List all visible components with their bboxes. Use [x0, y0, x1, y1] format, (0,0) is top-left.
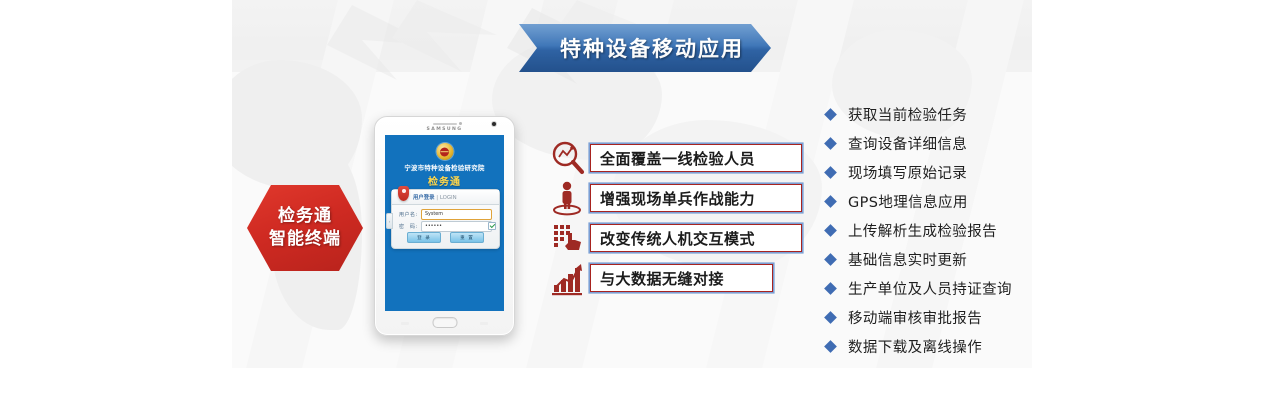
- feature-row: 改变传统人机交互模式: [548, 218, 818, 258]
- diamond-bullet-icon: [824, 224, 837, 237]
- slide-canvas: 特种设备移动应用 检务通 智能终端 SAMSUNG 宁波市特种设备检验研究院 检…: [0, 0, 1280, 400]
- list-item: 生产单位及人员持证查询: [826, 274, 1076, 303]
- list-item-label: GPS地理信息应用: [848, 191, 968, 212]
- diamond-bullet-icon: [824, 108, 837, 121]
- password-row: 密 码: ••••••: [399, 221, 492, 231]
- username-label: 用户名:: [399, 211, 421, 218]
- diamond-bullet-icon: [824, 311, 837, 324]
- list-item-label: 移动端审核审批报告: [848, 307, 982, 328]
- capability-bullet-list: 获取当前检验任务 查询设备详细信息 现场填写原始记录 GPS地理信息应用 上传解…: [826, 100, 1076, 361]
- speaker-grille: [433, 123, 457, 125]
- list-item: GPS地理信息应用: [826, 187, 1076, 216]
- login-submit-button[interactable]: 登 录: [407, 232, 441, 243]
- feature-box: 与大数据无缝对接: [590, 264, 773, 292]
- login-header-text: 用户登录 | LOGIN: [413, 193, 457, 201]
- bar-chart-growth-icon: [548, 259, 590, 297]
- feature-row: 全面覆盖一线检验人员: [548, 138, 818, 178]
- list-item: 基础信息实时更新: [826, 245, 1076, 274]
- diamond-bullet-icon: [824, 340, 837, 353]
- username-row: 用户名: System: [399, 209, 492, 219]
- diamond-bullet-icon: [824, 195, 837, 208]
- sensor-dot: [459, 122, 462, 125]
- password-input[interactable]: ••••••: [421, 221, 492, 232]
- login-header-cn: 用户登录: [413, 195, 435, 201]
- login-button-row: 登 录 重 置: [392, 232, 499, 243]
- tablet-device: SAMSUNG 宁波市特种设备检验研究院 检务通 用户登录 | LOGIN 用户…: [374, 116, 515, 336]
- password-label: 密 码:: [399, 223, 421, 230]
- list-item-label: 生产单位及人员持证查询: [848, 278, 1012, 299]
- list-item: 数据下载及离线操作: [826, 332, 1076, 361]
- banner-title: 特种设备移动应用: [546, 33, 744, 63]
- home-button[interactable]: [432, 317, 457, 328]
- diamond-bullet-icon: [824, 166, 837, 179]
- menu-capacitive-key[interactable]: [401, 322, 409, 325]
- login-panel: 用户登录 | LOGIN 用户名: System 密 码: •••••• 登 录…: [391, 189, 500, 249]
- feature-label: 与大数据无缝对接: [600, 268, 724, 289]
- list-item-label: 数据下载及离线操作: [848, 336, 982, 357]
- list-item: 移动端审核审批报告: [826, 303, 1076, 332]
- feature-row: 与大数据无缝对接: [548, 258, 818, 298]
- feature-box: 增强现场单兵作战能力: [590, 184, 802, 212]
- feature-box: 改变传统人机交互模式: [590, 224, 802, 252]
- product-badge: 检务通 智能终端: [247, 185, 363, 271]
- back-capacitive-key[interactable]: [480, 322, 488, 325]
- organization-name: 宁波市特种设备检验研究院: [385, 163, 504, 172]
- list-item: 查询设备详细信息: [826, 129, 1076, 158]
- remember-password-checkbox[interactable]: [488, 222, 496, 230]
- list-item: 获取当前检验任务: [826, 100, 1076, 129]
- feature-list: 全面覆盖一线检验人员 增强现场单兵作战能力: [548, 138, 818, 298]
- diamond-bullet-icon: [824, 253, 837, 266]
- feature-label: 改变传统人机交互模式: [600, 228, 755, 249]
- list-item-label: 现场填写原始记录: [848, 162, 967, 183]
- tablet-screen: 宁波市特种设备检验研究院 检务通 用户登录 | LOGIN 用户名: Syste…: [385, 135, 504, 311]
- feature-row: 增强现场单兵作战能力: [548, 178, 818, 218]
- list-item: 现场填写原始记录: [826, 158, 1076, 187]
- list-item-label: 上传解析生成检验报告: [848, 220, 997, 241]
- title-banner: 特种设备移动应用: [519, 24, 771, 72]
- feature-label: 全面覆盖一线检验人员: [600, 148, 755, 169]
- search-chart-icon: [548, 139, 590, 177]
- person-location-icon: [548, 179, 590, 217]
- list-item-label: 查询设备详细信息: [848, 133, 967, 154]
- touch-hand-icon: [548, 219, 590, 257]
- badge-line-2: 智能终端: [269, 228, 341, 251]
- list-item-label: 基础信息实时更新: [848, 249, 967, 270]
- user-badge-icon: [398, 186, 409, 201]
- login-header-en: LOGIN: [440, 195, 457, 201]
- front-camera-icon: [492, 122, 496, 126]
- screen-lower-area: [385, 255, 504, 311]
- username-input[interactable]: System: [421, 209, 492, 220]
- login-reset-button[interactable]: 重 置: [450, 232, 484, 243]
- side-drawer-toggle[interactable]: ›: [386, 213, 393, 229]
- feature-label: 增强现场单兵作战能力: [600, 188, 755, 209]
- list-item: 上传解析生成检验报告: [826, 216, 1076, 245]
- diamond-bullet-icon: [824, 282, 837, 295]
- agency-emblem-icon: [436, 143, 453, 160]
- badge-line-1: 检务通: [278, 205, 332, 228]
- device-brand-label: SAMSUNG: [375, 127, 514, 132]
- diamond-bullet-icon: [824, 137, 837, 150]
- list-item-label: 获取当前检验任务: [848, 104, 967, 125]
- feature-box: 全面覆盖一线检验人员: [590, 144, 802, 172]
